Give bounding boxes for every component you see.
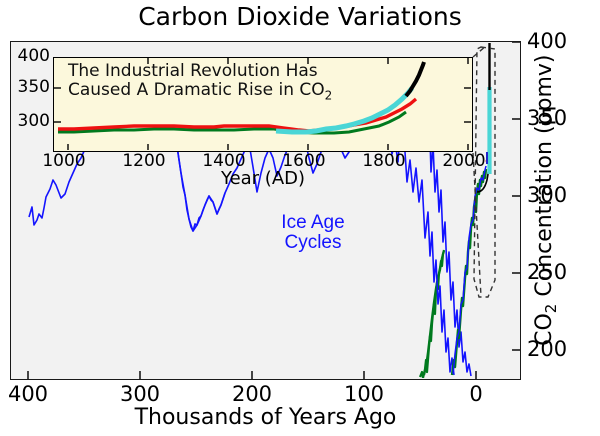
- inset-text-line-2: Caused A Dramatic Rise in CO2: [68, 81, 332, 105]
- inset-ytick-label-350: 350: [14, 79, 50, 96]
- xtick-label-0: 0: [452, 384, 500, 405]
- inset-black-series: [406, 62, 424, 96]
- inset-text-line-2-sub: 2: [325, 88, 333, 102]
- inset-ytick-label-400: 400: [14, 48, 50, 65]
- y-axis-title-post: Concentration (ppmv): [532, 54, 557, 303]
- inset-annotation-text: The Industrial Revolution Has Caused A D…: [68, 62, 332, 105]
- xtick-label-300: 300: [110, 384, 170, 405]
- inset-ytick-label-300: 300: [14, 113, 50, 130]
- inset-plot-area: The Industrial Revolution Has Caused A D…: [53, 57, 473, 152]
- xtick-label-400: 400: [0, 384, 58, 405]
- inset-x-axis-title: Year (AD): [53, 168, 473, 189]
- xtick-label-200: 200: [222, 384, 282, 405]
- y-axis-title: CO2 Concentration (ppmv): [532, 50, 560, 350]
- ice-age-line-1: Ice Age: [258, 213, 368, 233]
- xtick-label-100: 100: [334, 384, 394, 405]
- y-axis-title-sub: 2: [542, 304, 560, 314]
- inset-text-line-2-pre: Caused A Dramatic Rise in CO: [68, 80, 325, 100]
- ice-age-cycles-annotation: Ice Age Cycles: [258, 213, 368, 253]
- y-axis-title-pre: CO: [532, 313, 557, 346]
- x-axis-title: Thousands of Years Ago: [10, 405, 521, 430]
- ice-age-line-2: Cycles: [258, 233, 368, 253]
- inset-text-line-1: The Industrial Revolution Has: [68, 62, 332, 81]
- ytick-label-400: 400: [527, 31, 567, 52]
